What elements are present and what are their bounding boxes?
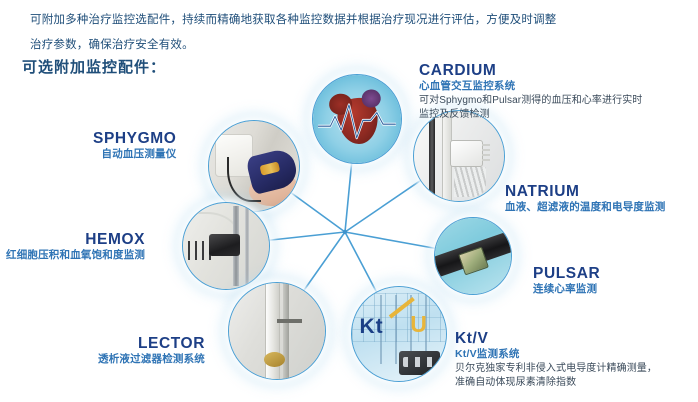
heart-ecg-icon [313, 75, 401, 163]
slide-canvas: 可附加多种治疗监控选配件，持续而精确地获取各种监控数据并根据治疗现况进行评估，方… [0, 0, 698, 402]
spoke-lector [304, 232, 345, 291]
label-sub-sphygmo: 自动血压测量仪 [93, 147, 176, 162]
label-desc-ktv-1: 贝尔克独家专利非侵入式电导度计精确测量， [455, 362, 657, 376]
label-name-natrium: NATRIUM [505, 183, 666, 200]
bubble-pulsar[interactable] [434, 217, 512, 295]
bubble-hemox[interactable] [182, 202, 270, 290]
spoke-natrium [345, 180, 421, 232]
blood-pressure-cuff-icon [209, 121, 299, 211]
dialysate-filter-icon [229, 283, 325, 379]
label-lector[interactable]: LECTOR透析液过滤器检测系统 [98, 335, 205, 367]
spoke-cardium [345, 162, 352, 232]
label-pulsar[interactable]: PULSAR连续心率监测 [533, 265, 600, 297]
label-name-cardium: CARDIUM [419, 62, 642, 79]
spoke-pulsar [345, 232, 435, 248]
ktv-graphic-text: Kt [360, 315, 384, 339]
label-name-pulsar: PULSAR [533, 265, 600, 282]
bubble-lector[interactable] [228, 282, 326, 380]
label-cardium[interactable]: CARDIUM心血管交互监控系统可对Sphygmo和Pulsar测得的血压和心率… [419, 62, 642, 121]
hub-center-dot [343, 230, 347, 234]
ktv-graphic-accent: U [410, 311, 427, 338]
bubble-natrium[interactable] [413, 110, 505, 202]
ktv-conductivity-icon: Kt U [352, 287, 446, 381]
label-desc-ktv-2: 准确自动体现尿素清除指数 [455, 376, 657, 390]
label-sub-hemox: 红细胞压积和血氧饱和度监测 [6, 248, 145, 263]
label-sub-lector: 透析液过滤器检测系统 [98, 352, 205, 367]
ecg-wave-icon [318, 101, 395, 140]
pulse-sensor-icon [435, 218, 511, 294]
conductivity-module-icon [414, 111, 504, 201]
label-desc-cardium-1: 可对Sphygmo和Pulsar测得的血压和心率进行实时 [419, 94, 642, 108]
bubble-cardium[interactable] [312, 74, 402, 164]
label-natrium[interactable]: NATRIUM血液、超滤液的温度和电导度监测 [505, 183, 666, 215]
label-sphygmo[interactable]: SPHYGMO自动血压测量仪 [93, 130, 176, 162]
label-name-lector: LECTOR [98, 335, 205, 352]
bubble-sphygmo[interactable] [208, 120, 300, 212]
label-name-sphygmo: SPHYGMO [93, 130, 176, 147]
label-hemox[interactable]: HEMOX红细胞压积和血氧饱和度监测 [6, 231, 145, 263]
hematocrit-sensor-icon [183, 203, 269, 289]
label-sub-ktv: Kt/V监测系统 [455, 347, 657, 362]
label-sub-natrium: 血液、超滤液的温度和电导度监测 [505, 200, 666, 215]
label-desc-cardium-2: 监控及反馈检测 [419, 108, 642, 122]
label-sub-cardium: 心血管交互监控系统 [419, 79, 642, 94]
bubble-ktv[interactable]: Kt U [351, 286, 447, 382]
label-name-ktv: Kt/V [455, 330, 657, 347]
label-name-hemox: HEMOX [6, 231, 145, 248]
spoke-hemox [268, 232, 345, 240]
spoke-sphygmo [289, 191, 345, 232]
label-sub-pulsar: 连续心率监测 [533, 282, 600, 297]
spoke-ktv [345, 232, 376, 291]
label-ktv[interactable]: Kt/VKt/V监测系统贝尔克独家专利非侵入式电导度计精确测量，准确自动体现尿素… [455, 330, 657, 389]
